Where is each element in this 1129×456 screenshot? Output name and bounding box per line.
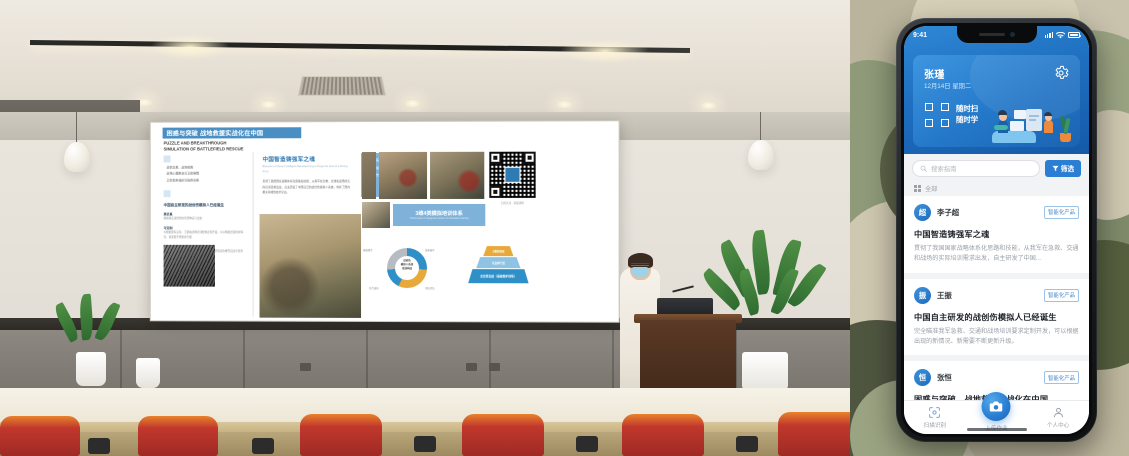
card-title: 中国自主研发的战创伤模拟人已经诞生 (914, 311, 1079, 323)
slide-block-text: 模拟真实战创伤的生理体征与出血 (164, 217, 245, 222)
wall-vent (466, 363, 477, 371)
pyramid-tier: 专业骨干层 (476, 257, 520, 268)
pendant-lamp (64, 142, 90, 172)
current-date: 12月14日 星期二 (924, 81, 971, 90)
qr-caption: 扫码关注 · 获取资料 (489, 201, 535, 205)
avatar: 超 (914, 204, 931, 221)
bottom-tab-bar: 扫描识别 上传作业 (904, 400, 1089, 434)
camera-scan-icon (928, 406, 941, 419)
filter-button[interactable]: 筛选 (1045, 160, 1081, 177)
pyramid-tier: 卫勤指挥层 (483, 246, 513, 256)
qr-code (489, 152, 535, 198)
phone-screen: 9:41 张瑾 (904, 26, 1089, 434)
pendant-lamp (748, 140, 774, 170)
slide-block-text: 可根据部队实际、卫勤和战场培训要求定制开发，可以根据出现的新情况、新需要不断更新… (164, 231, 245, 241)
search-row: 搜索指南 筛选 (904, 156, 1089, 180)
search-placeholder: 搜索指南 (931, 164, 957, 173)
pyramid-diagram: 卫勤指挥层 专业骨干层 全员普及层（基础救护训练） (461, 244, 536, 294)
slide-block-label: 可定制 (164, 226, 245, 230)
search-icon (920, 165, 927, 172)
tab-label: 扫描识别 (924, 421, 946, 429)
status-badge: 智能化产品 (1044, 206, 1079, 219)
office-desk-illustration (986, 87, 1074, 145)
donut-chart: 战创伤 模拟人系统 培训构成 基础理论 技能操作 综合演练 考核评估 (375, 242, 437, 304)
slide-title-en: PUZZLE AND BREAKTHROUGH SIMULATION OF BA… (164, 140, 313, 152)
wall-vent (489, 363, 500, 371)
slide-photo-casualty-d (362, 202, 390, 228)
filter-label: 筛选 (1061, 163, 1074, 173)
header-hero-card: 张瑾 12月14日 星期二 随时扫 随时学 (913, 55, 1080, 147)
front-camera-icon (1010, 32, 1015, 37)
gear-icon[interactable] (1053, 65, 1069, 81)
scan-promo-block[interactable]: 随时扫 随时学 (925, 103, 978, 127)
slide-sub-heading: 中国自主研发的战创伤模拟人已经诞生 (164, 203, 245, 208)
downlight (556, 100, 573, 109)
donut-label: 基础理论 (363, 248, 373, 252)
list-item[interactable]: 超 李子超 智能化产品 中国智造铸强军之魂 贯彻了我国国家战略体系化思路和技能，… (904, 196, 1089, 273)
slide-photo-field-rescue (260, 214, 362, 318)
list-item[interactable]: 振 王振 智能化产品 中国自主研发的战创伤模拟人已经诞生 完全瞄准我军急救、交通… (904, 279, 1089, 356)
smartphone-device: 9:41 张瑾 (896, 18, 1097, 442)
slide-bullet: 卫生勤务组织与指挥训练 (164, 177, 245, 183)
pendant-cord (76, 112, 77, 144)
downlight (700, 101, 717, 110)
downlight (260, 100, 277, 109)
earpiece-speaker (979, 33, 1005, 36)
phone-bezel: 9:41 张瑾 (901, 23, 1092, 437)
slide-divider (253, 152, 254, 316)
presenter-glasses (631, 263, 649, 266)
slide-banner: 3维4类模拟培训体系 3 Dimensions 4 Categories Sys… (393, 204, 485, 226)
presentation-display-screen: 困惑与突破 战地救援实战化在中国 PUZZLE AND BREAKTHROUGH… (150, 120, 620, 322)
person-icon (1052, 406, 1065, 419)
card-description: 贯彻了我国国家战略体系化思路和技能，从我军在急救、交通和战场的实际培训需求出发，… (914, 244, 1079, 264)
panel-seam (489, 330, 491, 392)
tab-label: 个人中心 (1047, 421, 1069, 429)
slide-photo-casualty-b (379, 152, 427, 199)
ceiling-air-vent (298, 76, 386, 96)
slide-photo-casualty-a (362, 152, 376, 199)
card-author: 张恒 (937, 372, 952, 383)
slide-block-label: 高仿真 (164, 212, 245, 216)
slide-mid-column: 中国智造铸强军之魂 Blueprint of China's Intellige… (262, 155, 350, 196)
banner-title-en: 3 Dimensions 4 Categories System for Sim… (410, 218, 469, 220)
slide-heading-en: Blueprint of China's Intelligent Manufac… (262, 165, 350, 174)
article-card-list[interactable]: 超 李子超 智能化产品 中国智造铸强军之魂 贯彻了我国国家战略体系化思路和技能，… (904, 196, 1089, 400)
light-glow (560, 38, 650, 64)
tab-personal-center[interactable]: 个人中心 (1028, 406, 1088, 429)
downlight (404, 99, 421, 108)
card-title: 中国智造铸强军之魂 (914, 228, 1079, 240)
home-indicator (967, 428, 1027, 431)
qr-center-logo (504, 167, 520, 183)
grid-icon (914, 185, 921, 192)
donut-center-label: 战创伤 模拟人系统 培训构成 (393, 259, 421, 270)
filter-icon (1052, 165, 1059, 172)
card-author: 王振 (937, 290, 952, 301)
slide-heading-cn: 中国智造铸强军之魂 (262, 155, 350, 163)
pyramid-tier: 全员普及层（基础救护训练） (468, 269, 528, 283)
donut-label: 考核评估 (425, 286, 435, 290)
search-input[interactable]: 搜索指南 (912, 160, 1040, 177)
donut-label: 综合演练 (369, 286, 379, 290)
wall-vent (300, 363, 311, 371)
pendant-cord (760, 112, 761, 142)
audience-desk-top (0, 388, 850, 424)
section-header-row: 全部 (904, 180, 1089, 196)
scan-frame-icon (925, 103, 949, 127)
camera-icon[interactable] (982, 392, 1011, 421)
section-marker (164, 155, 171, 162)
phone-notch (957, 26, 1037, 43)
panel-seam (612, 330, 614, 392)
panel-seam (243, 330, 245, 392)
presenter-face-mask (631, 267, 649, 277)
screenshot-stage: 困惑与突破 战地救援实战化在中国 PUZZLE AND BREAKTHROUGH… (0, 0, 1129, 456)
slide-paragraph: 贯彻了我国国家战略体系化思路和技能，从我军在急救、交通和战场的实际培训需求出发，… (262, 179, 350, 196)
slide-title-bar: 困惑与突破 战地救援实战化在中国 (163, 127, 302, 138)
card-author: 李子超 (937, 207, 959, 218)
slide-photo-casualty-c (430, 152, 484, 199)
panel-seam (366, 330, 368, 392)
section-marker (164, 190, 171, 197)
avatar: 恒 (914, 369, 931, 386)
tab-scan-recognize[interactable]: 扫描识别 (905, 406, 965, 429)
wifi-icon (1056, 32, 1065, 39)
conference-room-photo: 困惑与突破 战地救援实战化在中国 PUZZLE AND BREAKTHROUGH… (0, 0, 850, 456)
user-name: 张瑾 (924, 66, 945, 81)
avatar: 振 (914, 287, 931, 304)
slide-left-column: 战伤急救、战场搜救 战场心理救治与卫勤保障 卫生勤务组织与指挥训练 中国自主研发… (164, 155, 245, 259)
scan-promo-text: 随时扫 随时学 (956, 104, 978, 125)
donut-label: 技能操作 (425, 248, 435, 252)
light-glow (150, 34, 230, 60)
battery-icon (1068, 32, 1080, 38)
status-badge: 智能化产品 (1044, 289, 1079, 302)
slide-historical-photo (164, 245, 215, 287)
status-badge: 智能化产品 (1044, 371, 1079, 384)
section-label: 全部 (925, 184, 937, 193)
slide-title-cn: 困惑与突破 战地救援实战化在中国 (167, 128, 264, 137)
status-time: 9:41 (913, 32, 927, 39)
banner-title-cn: 3维4类模拟培训体系 (415, 210, 462, 217)
card-description: 完全瞄准我军急救、交通和战场培训要求定制开发，可以根据出现的新情况、新需要不断更… (914, 327, 1079, 347)
cellular-signal-icon (1045, 32, 1053, 39)
panel-seam (120, 330, 122, 392)
